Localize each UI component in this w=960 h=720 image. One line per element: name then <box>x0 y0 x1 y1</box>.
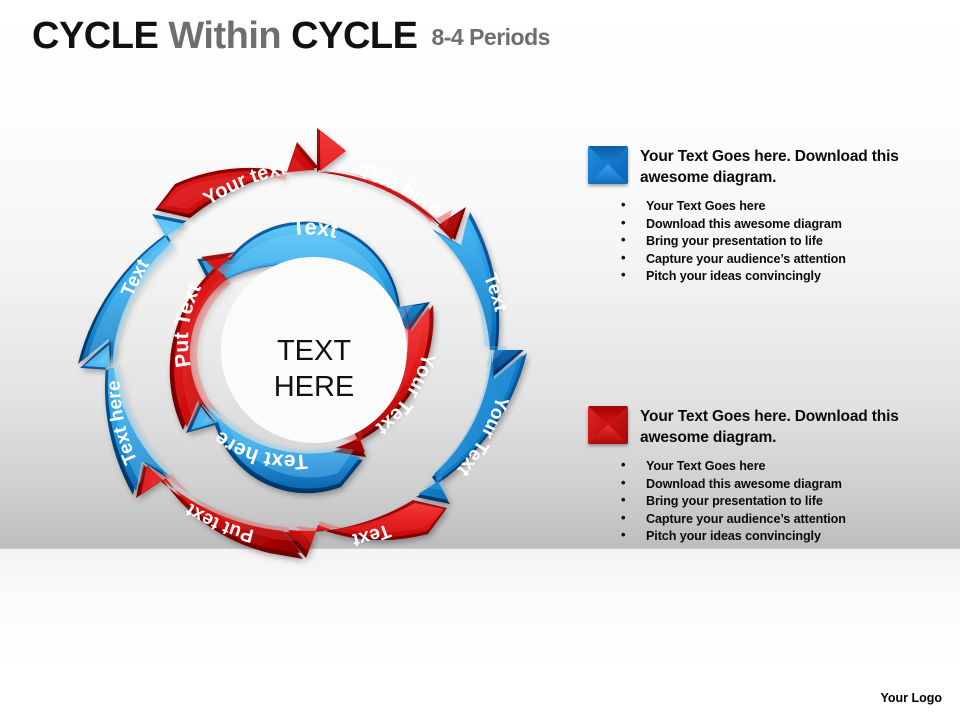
content-block-red: Your Text Goes here. Download this aweso… <box>588 406 943 546</box>
content-block-blue-list: Your Text Goes here Download this awesom… <box>588 198 943 285</box>
center-text-line-1: TEXT <box>277 335 351 367</box>
diagram-reflection <box>78 541 527 720</box>
outer-segment-1[interactable] <box>432 212 524 378</box>
list-item: Capture your audience’s attention <box>646 251 943 268</box>
content-block-blue: Your Text Goes here. Download this aweso… <box>588 146 943 286</box>
list-item: Bring your presentation to life <box>646 233 943 250</box>
list-item: Pitch your ideas convincingly <box>646 268 943 285</box>
list-item: Capture your audience’s attention <box>646 511 943 528</box>
content-block-red-header: Your Text Goes here. Download this aweso… <box>588 406 943 448</box>
content-block-red-heading: Your Text Goes here. Download this aweso… <box>640 406 940 448</box>
list-item: Bring your presentation to life <box>646 493 943 510</box>
outer-label-0: Text here <box>357 161 446 221</box>
square-bevel-blue-icon <box>588 146 628 184</box>
footer-logo: Your Logo <box>880 691 942 705</box>
outer-segment-7[interactable] <box>155 142 319 218</box>
outer-label-7: Your text <box>200 157 289 210</box>
outer-label-5: Text here <box>104 380 142 467</box>
list-item: Download this awesome diagram <box>646 476 943 493</box>
list-item: Download this awesome diagram <box>646 216 943 233</box>
content-block-red-list: Your Text Goes here Download this awesom… <box>588 458 943 545</box>
list-item: Your Text Goes here <box>646 198 943 215</box>
content-block-blue-heading: Your Text Goes here. Download this aweso… <box>640 146 940 188</box>
content-block-blue-header: Your Text Goes here. Download this aweso… <box>588 146 943 188</box>
cycle-within-cycle-diagram: Text here Text Your Text Text Put text T… <box>0 0 600 720</box>
list-item: Your Text Goes here <box>646 458 943 475</box>
slide-canvas: CYCLE Within CYCLE8-4 Periods <box>0 0 960 720</box>
square-bevel-red-icon <box>588 406 628 444</box>
list-item: Pitch your ideas convincingly <box>646 528 943 545</box>
inner-label-0: Text <box>291 214 341 243</box>
center-text-line-2: HERE <box>274 371 355 403</box>
